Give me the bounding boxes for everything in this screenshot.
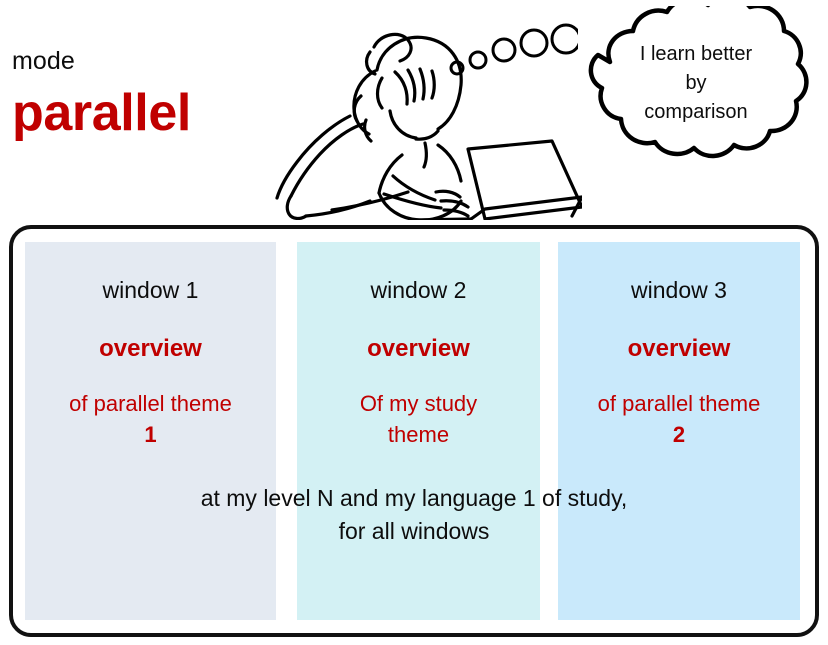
thought-line-1: I learn better: [610, 40, 782, 69]
window-3-sub-number: 2: [673, 422, 685, 447]
window-1-overview: overview: [25, 335, 276, 363]
window-2-title: window 2: [297, 277, 540, 304]
window-column-3[interactable]: window 3 overview of parallel theme 2: [558, 242, 800, 620]
window-3-subtitle: of parallel theme 2: [558, 388, 800, 450]
window-2-sub-number: theme: [388, 422, 449, 447]
window-2-overview: overview: [297, 335, 540, 363]
window-1-sub-number: 1: [144, 422, 156, 447]
window-1-subtitle: of parallel theme 1: [25, 388, 276, 450]
thought-line-2: by: [610, 69, 782, 98]
thought-dots-icon: [448, 22, 578, 78]
window-2-subtitle: Of my study theme: [297, 388, 540, 450]
window-column-2[interactable]: window 2 overview Of my study theme: [297, 242, 540, 620]
window-3-title: window 3: [558, 277, 800, 304]
window-column-1[interactable]: window 1 overview of parallel theme 1: [25, 242, 276, 620]
window-2-sub-text: Of my study: [360, 391, 477, 416]
window-1-sub-text: of parallel theme: [69, 391, 232, 416]
thought-line-3: comparison: [610, 98, 782, 127]
window-1-title: window 1: [25, 277, 276, 304]
window-3-sub-text: of parallel theme: [598, 391, 761, 416]
window-3-overview: overview: [558, 335, 800, 363]
windows-columns: window 1 overview of parallel theme 1 wi…: [9, 242, 819, 622]
thought-bubble-text: I learn better by comparison: [610, 40, 782, 127]
mode-value: parallel: [12, 84, 191, 142]
mode-label: mode: [12, 47, 75, 76]
